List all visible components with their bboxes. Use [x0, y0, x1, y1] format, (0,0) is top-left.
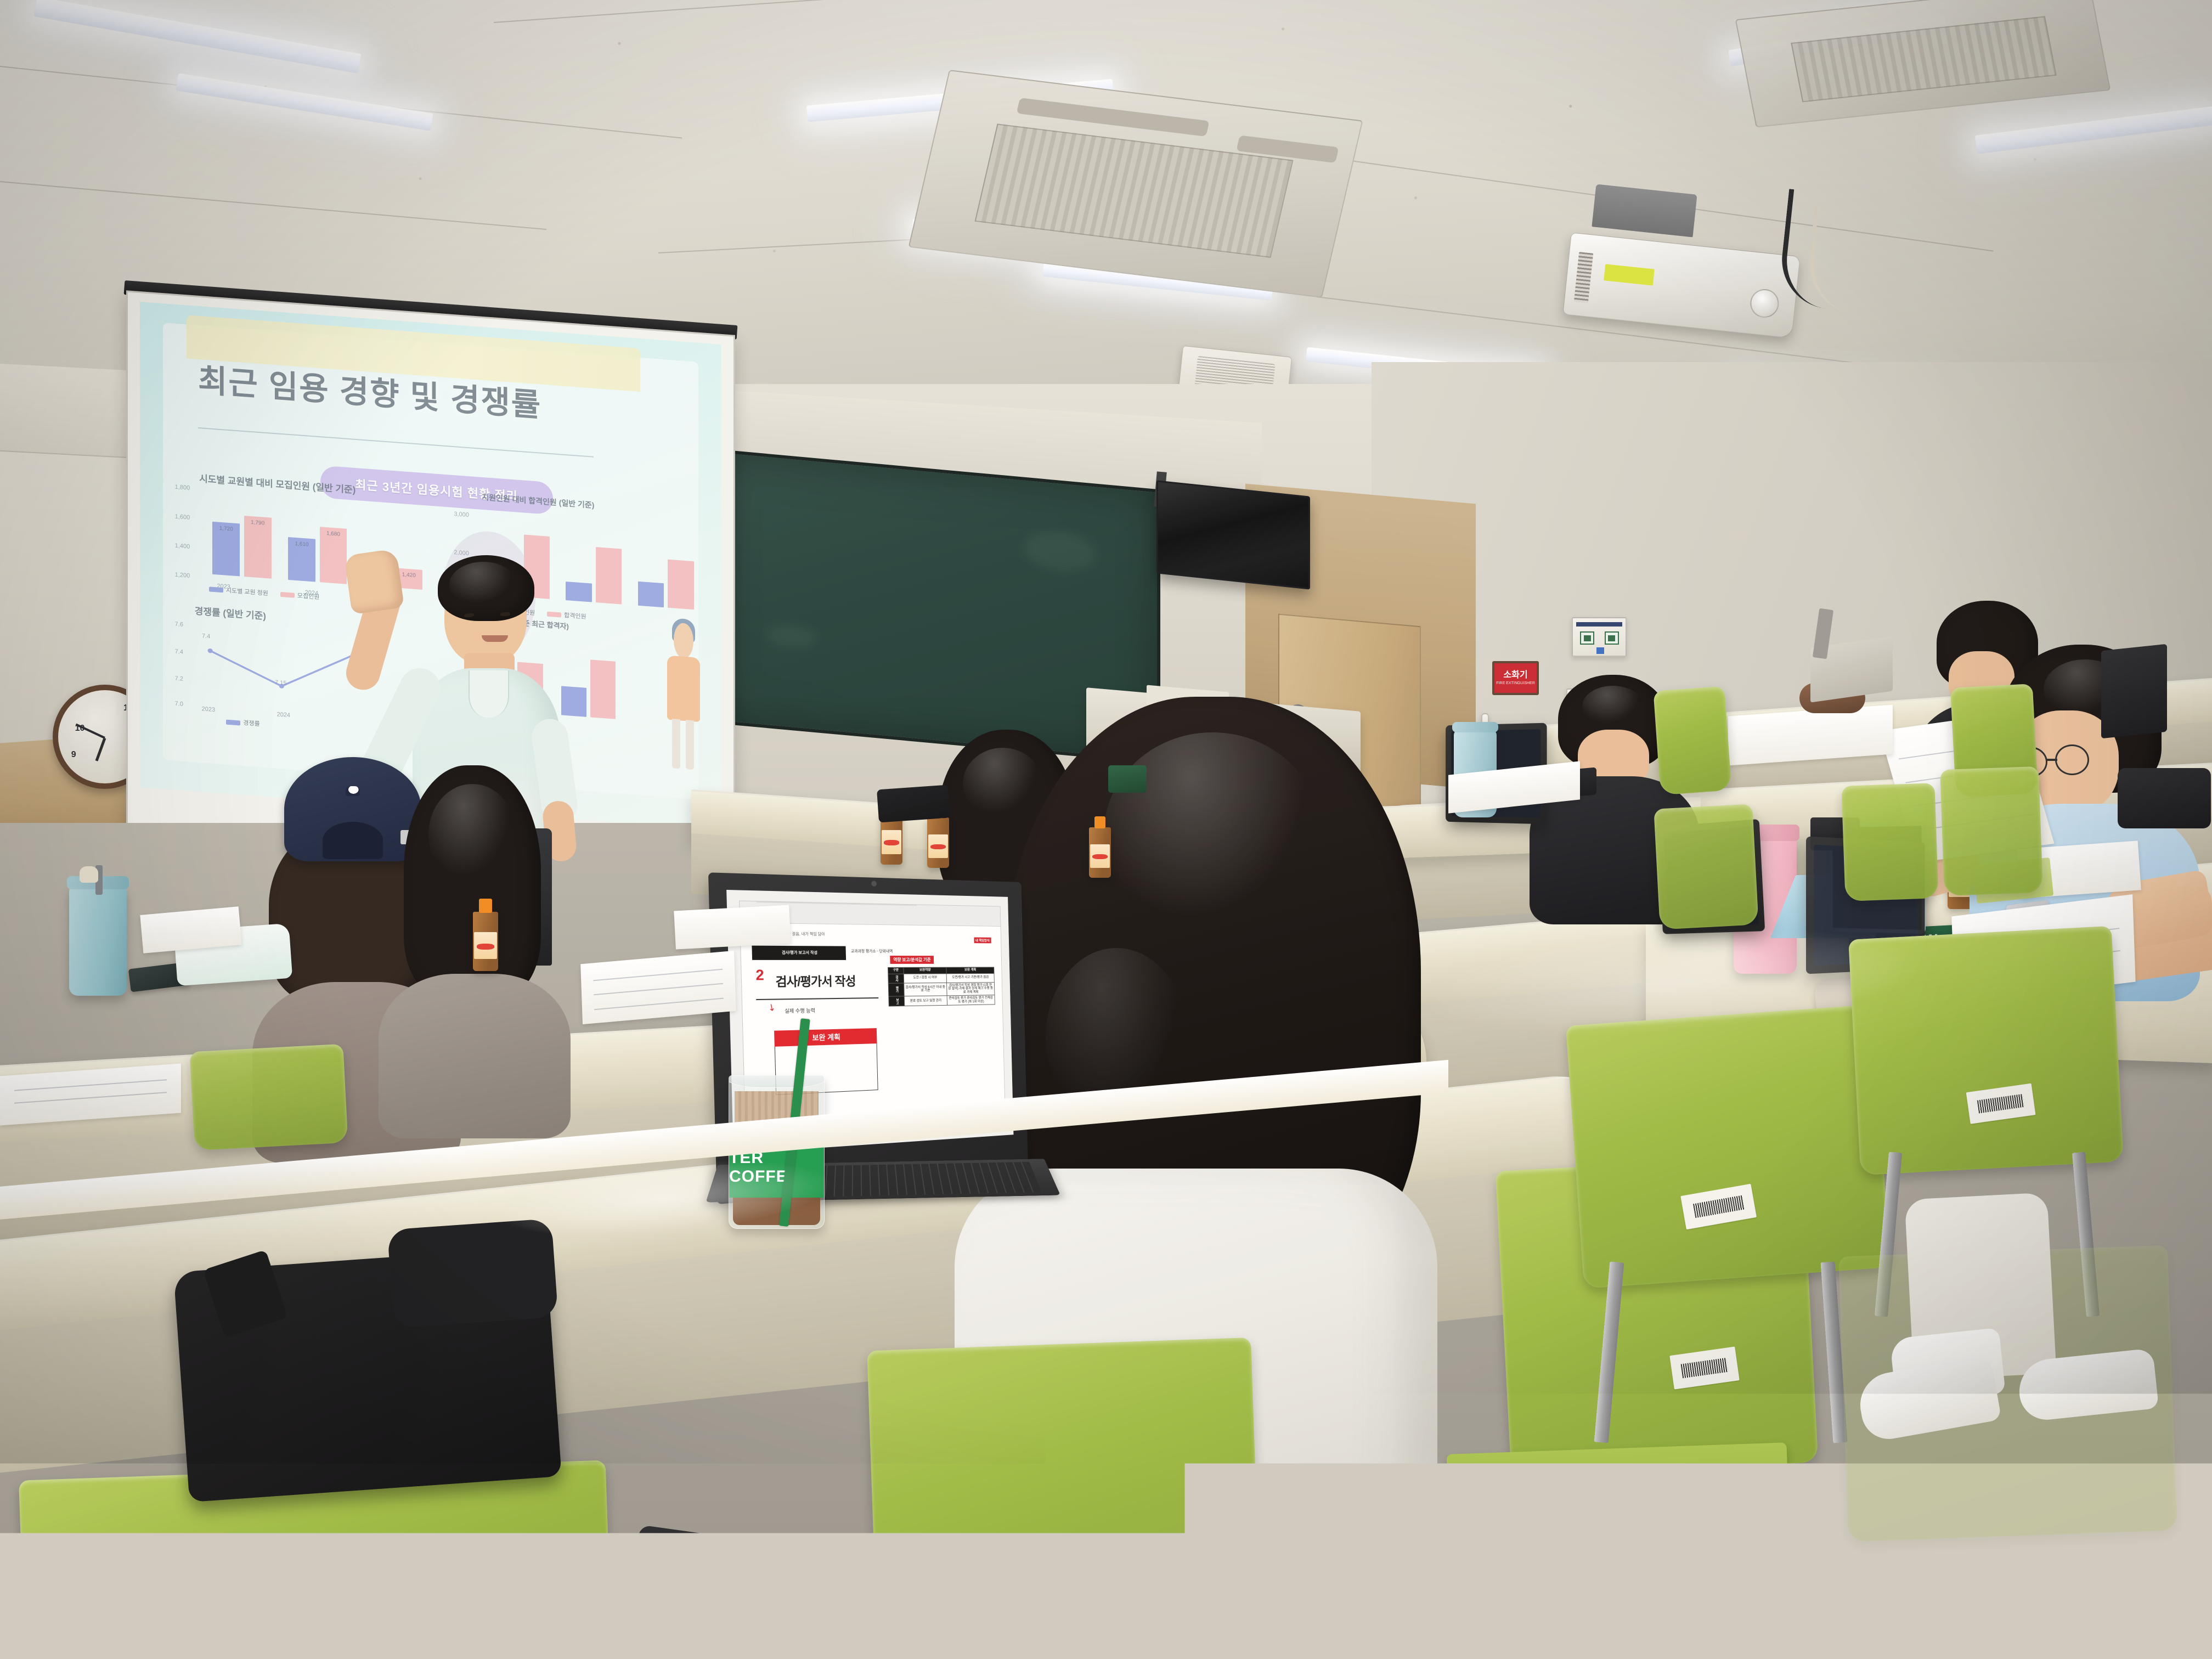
student-hair [404, 765, 541, 996]
slide-black-tag: 검사/평가 보고서 작성 [752, 945, 846, 960]
table-header-cell: 보완 계획 [946, 967, 994, 974]
table-row-header: 보고 [889, 996, 904, 1006]
tumbler-blue[interactable] [69, 886, 127, 996]
table-cell: 검사/평가서 작성 6시간 이내 종료 기준 [904, 983, 947, 996]
slide-illustration-person [663, 622, 704, 770]
lecture-hall-photo: 11 10 9 소화기 FIRE EXTINGUISHER 최근 임용 경향 및… [0, 0, 2212, 1659]
chair-foreground-left[interactable] [867, 1338, 1261, 1659]
chair-mid-right[interactable] [1841, 783, 1938, 901]
pencil-case[interactable] [877, 785, 950, 823]
table-header-cell: 구분 [888, 967, 904, 974]
table-header-cell: 보완역량 [904, 967, 946, 974]
tumbler-handle [80, 866, 98, 883]
chair-upper-right[interactable] [1654, 686, 1732, 795]
table-row: 검사 도전 / 검정 시 여부 도면/평가 시고 기준/평가 점검 [888, 973, 994, 983]
table-row: 평가 검사/평가서 작성 6시간 이내 종료 기준 검사/평가서 작성 경험 평… [889, 982, 995, 996]
table-cell: 준비검토 평가 준비검토 평가 전체검토 평가 (최 1회 이상) [947, 995, 995, 1006]
green-item [1108, 765, 1147, 793]
table-row-header: 검사 [888, 974, 904, 983]
glasses-bridge [2046, 759, 2057, 761]
paper-sheet [674, 905, 791, 950]
table-header-row: 구분 보완역량 보완 계획 [888, 967, 994, 974]
slide-table: 구분 보완역량 보완 계획 검사 도전 / 검정 시 여부 도면/평가 시고 기… [888, 967, 995, 1007]
presenter-hand [344, 549, 404, 614]
slide-subheading: 실제 수행 능력 [785, 1007, 815, 1014]
legend-label: 모집인원 [297, 592, 319, 601]
slide-right-badge: 내 책임방식 [974, 938, 991, 944]
table-cell: 완료 검토 보고 일정 관리 [904, 996, 947, 1006]
slide-step-number: 2 [755, 967, 764, 982]
laptop-webcam [871, 881, 877, 887]
chair-asset-sticker [1670, 1347, 1740, 1390]
av-wall-panel[interactable] [1572, 617, 1627, 657]
vitamin-drink-bottle[interactable] [1089, 827, 1111, 878]
slide-rule [757, 997, 878, 1000]
chair-leg [905, 1618, 922, 1659]
chair-left-mid[interactable] [189, 1044, 348, 1150]
table-row: 보고 완료 검토 보고 일정 관리 준비검토 평가 준비검토 평가 전체검토 평… [889, 995, 995, 1007]
legend-label: 경쟁률 [243, 720, 259, 727]
bag-bottom-left[interactable] [623, 1525, 732, 1659]
chart-line: 경쟁률 (일반 기준) 7.6 7.4 7.2 7.0 7.4 7.15 202… [175, 615, 373, 727]
chair-mid-foreground[interactable] [1566, 1005, 1891, 1289]
vitamin-drink-bottle[interactable] [927, 817, 949, 868]
chair-mid-right-2[interactable] [1654, 804, 1758, 929]
cup-lid [729, 1075, 825, 1088]
vitamin-drink-bottle[interactable] [473, 912, 498, 971]
slide-heading: 검사/평가서 작성 [775, 972, 856, 991]
table-cell: 도면/평가 시고 기준/평가 점검 [946, 973, 994, 983]
presenter-mouth [482, 635, 508, 642]
chair-asset-sticker [1681, 1183, 1757, 1229]
sign-label: 소화기 [1503, 670, 1527, 680]
chair-asset-sticker [1050, 1558, 1136, 1605]
student-shirt [379, 974, 571, 1138]
presenter-collar [469, 670, 509, 718]
student-grey-tee [395, 765, 549, 1116]
bag-far-right[interactable] [2118, 768, 2211, 828]
arrow-icon: ↘ [765, 1000, 778, 1014]
chair-right-3[interactable] [1940, 766, 2043, 896]
table-cell: 도전 / 검정 시 여부 [904, 973, 946, 983]
glasses-lens-right [2055, 744, 2089, 775]
chair-asset-sticker [1966, 1083, 2035, 1124]
slide-top-subtitle: 교과과정 평가소 - 단위내역 [851, 949, 893, 954]
laptop-far-right[interactable] [2101, 644, 2167, 739]
chair-seat-center[interactable] [1447, 1442, 1791, 1564]
table-caption: 역량 보고/분석값 기준 [890, 956, 934, 964]
presenter-hair [438, 555, 534, 621]
table-row-header: 평가 [889, 983, 905, 997]
table-cell: 검사/평가서 작성 경험 평가 (1회 현장 참여) 과제 결과 상세 체크 수… [946, 982, 994, 996]
backpack[interactable] [173, 1246, 562, 1502]
tv-monitor [1156, 480, 1310, 589]
